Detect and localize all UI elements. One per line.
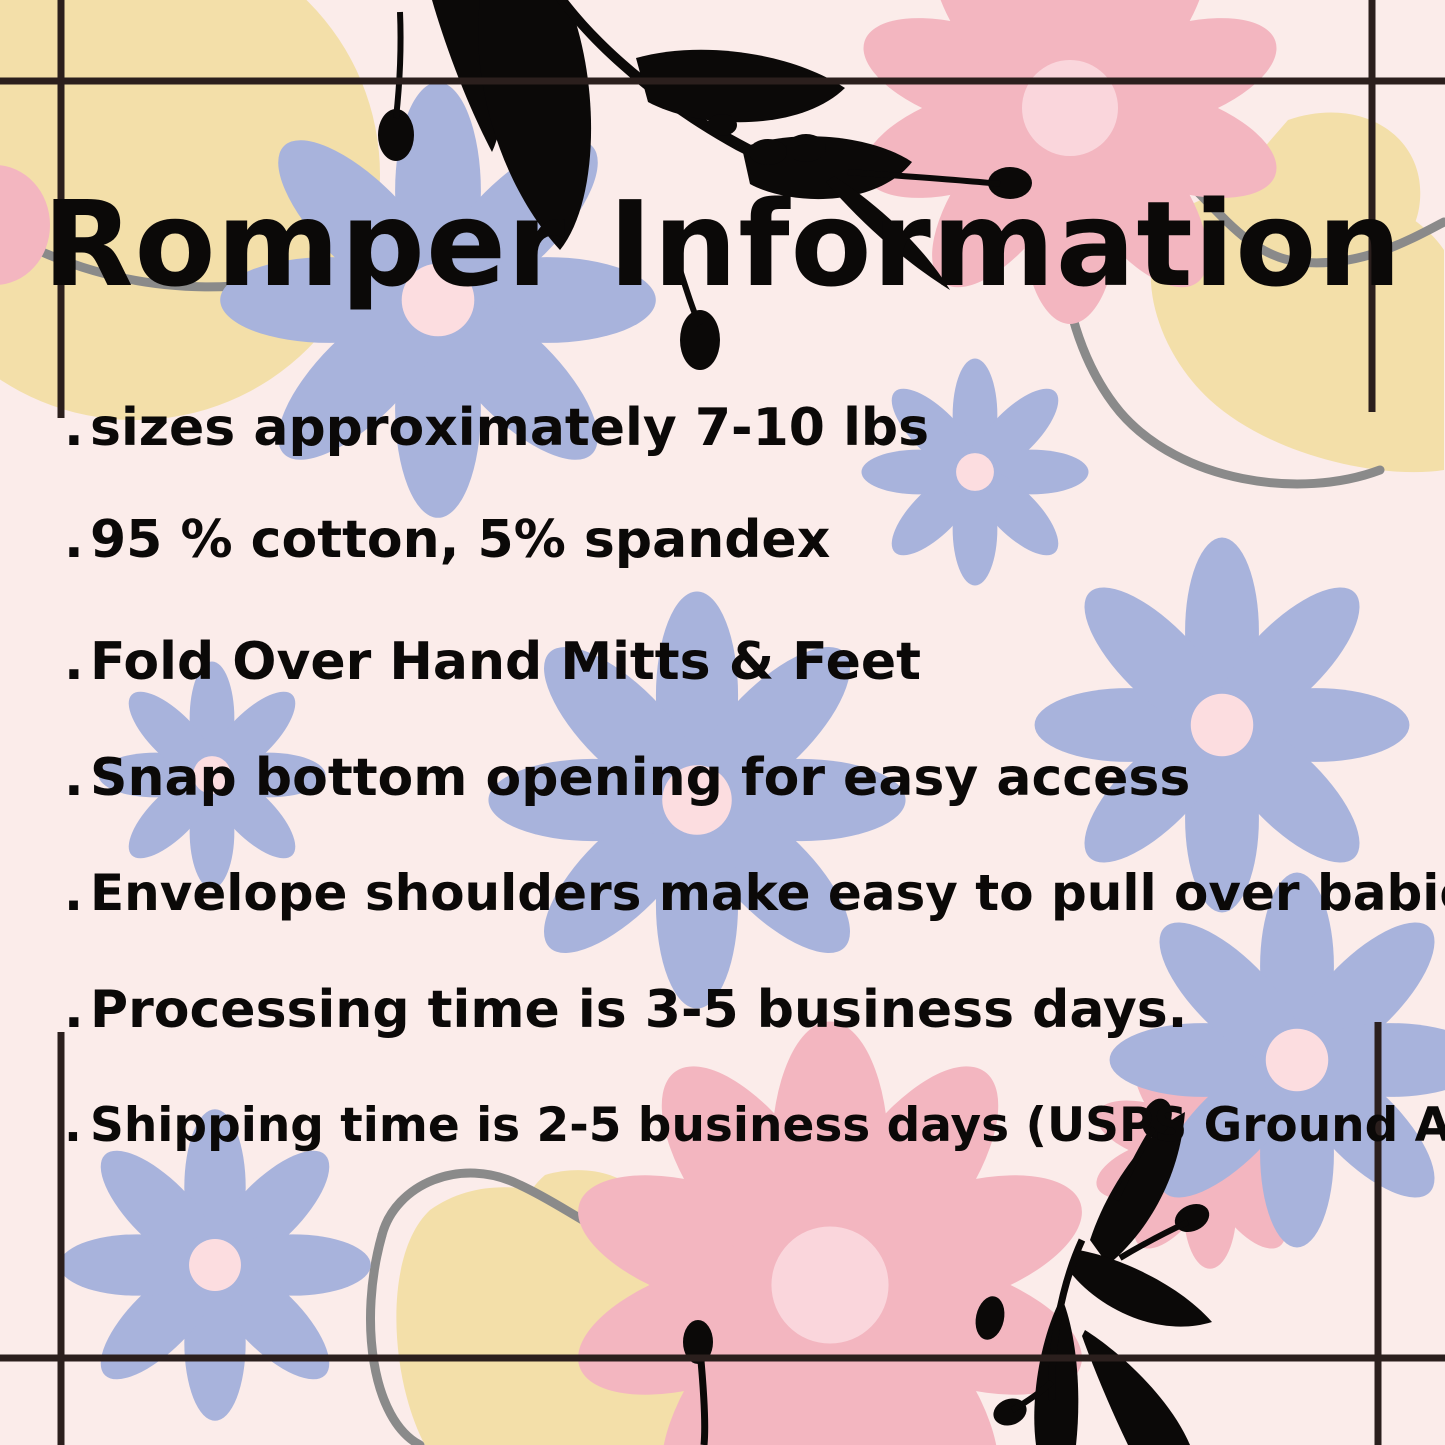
list-item: . Shipping time is 2-5 business days (US…: [64, 1098, 1445, 1153]
list-item: . Envelope shoulders make easy to pull o…: [64, 864, 1445, 922]
bullet-marker-icon: .: [64, 398, 90, 458]
list-item: . Processing time is 3-5 business days.: [64, 980, 1187, 1040]
bullet-marker-icon: .: [64, 510, 90, 570]
poster-text-layer: Romper Information . sizes approximately…: [0, 0, 1445, 1445]
list-item-label: Fold Over Hand Mitts & Feet: [90, 632, 921, 692]
bullet-marker-icon: .: [64, 632, 90, 692]
bullet-marker-icon: .: [64, 980, 90, 1040]
list-item: . 95 % cotton, 5% spandex: [64, 510, 830, 570]
list-item-label: sizes approximately 7-10 lbs: [90, 398, 929, 458]
list-item: . sizes approximately 7-10 lbs: [64, 398, 929, 458]
list-item-label: Envelope shoulders make easy to pull ove…: [90, 864, 1445, 922]
romper-information-poster: Romper Information . sizes approximately…: [0, 0, 1445, 1445]
list-item-label: Shipping time is 2-5 business days (USPS…: [90, 1098, 1445, 1153]
list-item-label: 95 % cotton, 5% spandex: [90, 510, 830, 570]
list-item-label: Processing time is 3-5 business days.: [90, 980, 1187, 1040]
list-item: . Fold Over Hand Mitts & Feet: [64, 632, 921, 692]
list-item-label: Snap bottom opening for easy access: [90, 748, 1190, 808]
bullet-marker-icon: .: [64, 864, 90, 922]
page-title: Romper Information: [0, 183, 1445, 307]
list-item: . Snap bottom opening for easy access: [64, 748, 1190, 808]
bullet-marker-icon: .: [64, 1098, 90, 1153]
bullet-marker-icon: .: [64, 748, 90, 808]
